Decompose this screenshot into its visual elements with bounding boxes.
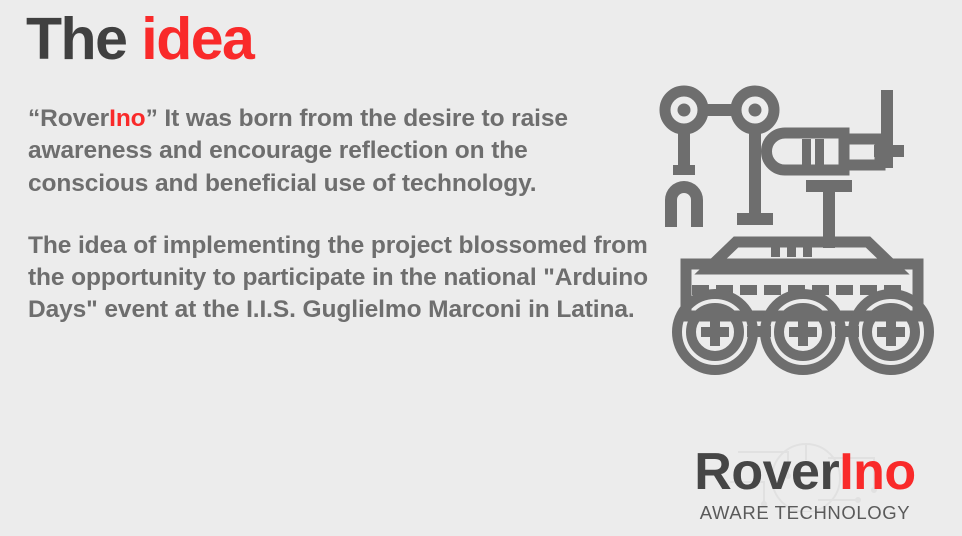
- arm-mast-foot: [737, 213, 773, 225]
- logo-wordmark: RoverIno: [648, 444, 962, 500]
- brand-name-ino: Ino: [109, 105, 145, 132]
- page-title-accent: idea: [141, 6, 253, 72]
- body-copy: “RoverIno” It was born from the desire t…: [28, 103, 650, 327]
- camera-sensor: [767, 133, 881, 170]
- paragraph-event: The idea of implementing the project blo…: [28, 230, 650, 327]
- brand-name-rover: Rover: [40, 105, 109, 132]
- school-name: I.I.S. Guglielmo Marconi in Latina.: [246, 296, 635, 323]
- wheel-left: [677, 294, 753, 370]
- slide-root: The idea “RoverIno” It was born from the…: [0, 0, 962, 536]
- logo-tagline: AWARE TECHNOLOGY: [648, 502, 962, 524]
- arm-bar: [700, 104, 740, 116]
- arm-joint-left: [665, 91, 703, 129]
- quote-open: “: [28, 105, 40, 132]
- logo: RoverIno AWARE TECHNOLOGY: [648, 440, 962, 536]
- logo-word-accent: Ino: [839, 443, 915, 501]
- paragraph-event-mid: event at the: [98, 296, 246, 323]
- arm-mast: [749, 127, 761, 219]
- quote-close: ”: [146, 105, 158, 132]
- wheel-center: [765, 294, 841, 370]
- page-title: The idea: [26, 6, 253, 74]
- arm-joint-right: [736, 91, 774, 129]
- arm-forearm: [678, 127, 690, 169]
- antenna-mast: [881, 90, 893, 168]
- rover-robot-icon: [652, 82, 948, 378]
- page-title-primary: The: [26, 6, 141, 72]
- gripper: [665, 165, 703, 227]
- wheel-right: [853, 294, 929, 370]
- paragraph-origin: “RoverIno” It was born from the desire t…: [28, 103, 650, 200]
- logo-word-primary: Rover: [694, 443, 839, 501]
